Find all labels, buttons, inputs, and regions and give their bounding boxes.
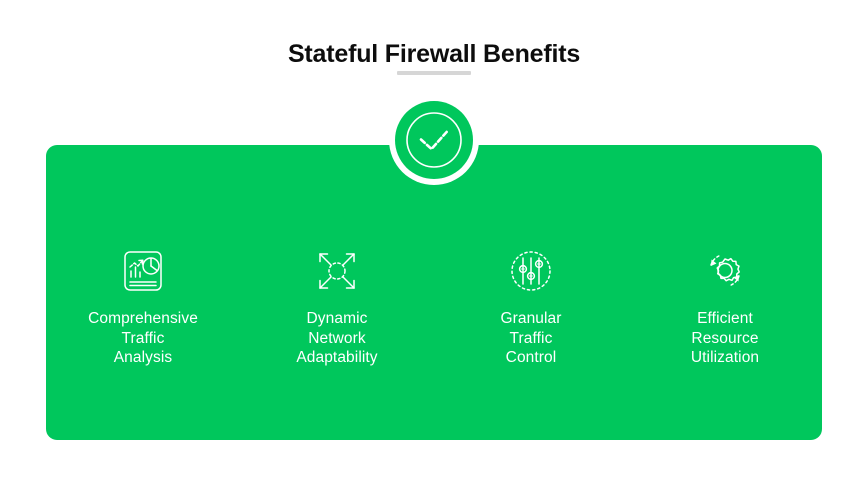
analytics-dashboard-icon xyxy=(115,245,171,297)
gear-rotation-icon xyxy=(697,245,753,297)
expand-arrows-icon xyxy=(309,245,365,297)
benefit-label: Dynamic Network Adaptability xyxy=(296,309,377,368)
page-title: Stateful Firewall Benefits xyxy=(0,38,868,70)
benefit-label: Efficient Resource Utilization xyxy=(691,309,759,368)
benefit-item: Efficient Resource Utilization xyxy=(635,245,815,368)
benefit-item: Granular Traffic Control xyxy=(441,245,621,368)
benefit-item: Comprehensive Traffic Analysis xyxy=(53,245,233,368)
check-badge xyxy=(389,95,479,185)
infographic-canvas: Stateful Firewall Benefits xyxy=(0,0,868,488)
benefit-label: Comprehensive Traffic Analysis xyxy=(88,309,198,368)
benefits-row: Comprehensive Traffic Analysis xyxy=(46,245,822,385)
benefit-label: Granular Traffic Control xyxy=(500,309,561,368)
title-divider xyxy=(397,71,471,75)
check-circle-icon xyxy=(395,101,473,179)
benefit-item: Dynamic Network Adaptability xyxy=(247,245,427,368)
sliders-control-icon xyxy=(503,245,559,297)
